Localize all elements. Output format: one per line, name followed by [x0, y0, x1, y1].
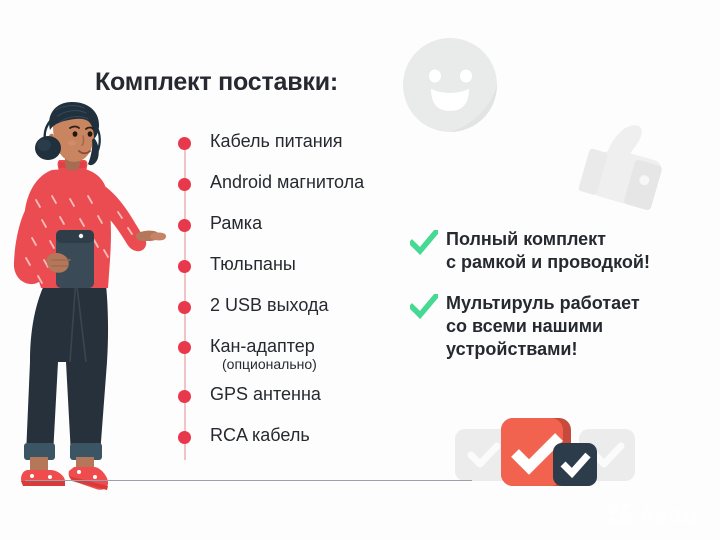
list-item: GPS антенна	[176, 383, 436, 424]
list-item: Кан-адаптер (опционально)	[176, 335, 436, 383]
bullet-dot-icon	[178, 341, 191, 354]
checkbox-group-icon	[455, 405, 635, 500]
benefits-list: Полный комплект с рамкой и проводкой! Му…	[410, 228, 710, 375]
benefit-item: Мультируль работает со всеми нашими устр…	[410, 292, 710, 361]
woman-pointing-illustration	[8, 100, 173, 500]
bullet-dot-icon	[178, 137, 191, 150]
list-item-sublabel: (опционально)	[222, 355, 317, 373]
list-item-label: Кабель питания	[210, 130, 343, 152]
bullet-dot-icon	[178, 431, 191, 444]
bullet-dot-icon	[178, 260, 191, 273]
bullet-dot-icon	[178, 219, 191, 232]
benefit-line: со всеми нашими	[446, 315, 710, 338]
list-item: RCA кабель	[176, 424, 436, 465]
ground-line	[25, 480, 472, 481]
bullet-dot-icon	[178, 301, 191, 314]
promo-card: Комплект поставки: Кабель питания Androi…	[0, 0, 720, 540]
supply-list: Кабель питания Android магнитола Рамка Т…	[176, 130, 436, 465]
list-item-label: Рамка	[210, 212, 262, 234]
smiley-face-icon	[400, 35, 500, 135]
benefit-item: Полный комплект с рамкой и проводкой!	[410, 228, 710, 274]
list-item: Рамка	[176, 212, 436, 253]
green-check-icon	[410, 294, 438, 320]
bullet-dot-icon	[178, 390, 191, 403]
avito-logo-icon: Avito	[604, 498, 708, 532]
benefit-text: Полный комплект с рамкой и проводкой!	[446, 228, 710, 274]
page-title: Комплект поставки:	[95, 68, 338, 97]
list-item-label: Android магнитола	[210, 171, 364, 193]
list-item-label: 2 USB выхода	[210, 294, 328, 316]
benefit-line: устройствами!	[446, 338, 710, 361]
list-item-label: GPS антенна	[210, 383, 321, 405]
benefit-line: Мультируль работает	[446, 292, 710, 315]
list-item-label: Тюльпаны	[210, 253, 296, 275]
list-item: Android магнитола	[176, 171, 436, 212]
benefit-line: с рамкой и проводкой!	[446, 251, 710, 274]
thumbs-up-icon	[572, 112, 677, 217]
list-item-label: RCA кабель	[210, 424, 310, 446]
bullet-dot-icon	[178, 178, 191, 191]
benefit-text: Мультируль работает со всеми нашими устр…	[446, 292, 710, 361]
avito-wordmark: Avito	[638, 503, 697, 530]
list-item: Тюльпаны	[176, 253, 436, 294]
list-item-label: Кан-адаптер	[210, 335, 315, 357]
green-check-icon	[410, 230, 438, 256]
benefit-line: Полный комплект	[446, 228, 710, 251]
list-item: Кабель питания	[176, 130, 436, 171]
list-item: 2 USB выхода	[176, 294, 436, 335]
